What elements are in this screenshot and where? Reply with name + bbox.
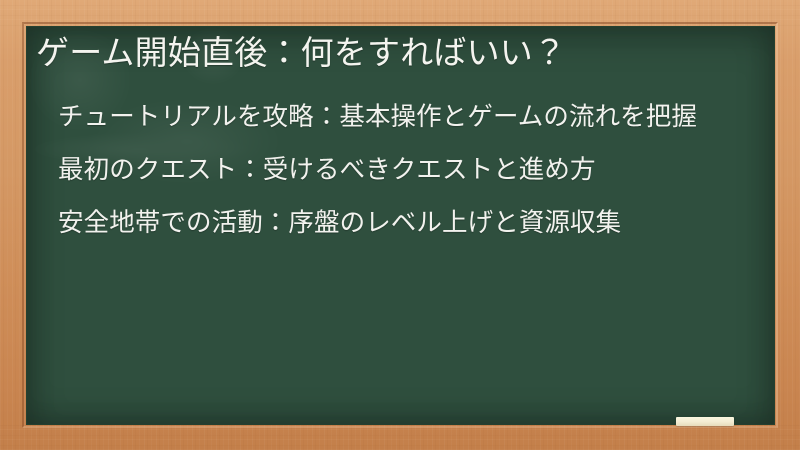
bullet-list: チュートリアルを攻略：基本操作とゲームの流れを把握 最初のクエスト：受けるべきク… [58, 100, 750, 241]
chalkboard-slide: ゲーム開始直後：何をすればいい？ チュートリアルを攻略：基本操作とゲームの流れを… [0, 0, 800, 450]
slide-content: ゲーム開始直後：何をすればいい？ チュートリアルを攻略：基本操作とゲームの流れを… [26, 26, 775, 425]
page-title: ゲーム開始直後：何をすればいい？ [36, 31, 766, 75]
list-item: 安全地帯での活動：序盤のレベル上げと資源収集 [58, 206, 750, 241]
list-item: チュートリアルを攻略：基本操作とゲームの流れを把握 [58, 100, 750, 135]
chalk-stick-icon [676, 417, 734, 426]
list-item: 最初のクエスト：受けるべきクエストと進め方 [58, 153, 750, 188]
